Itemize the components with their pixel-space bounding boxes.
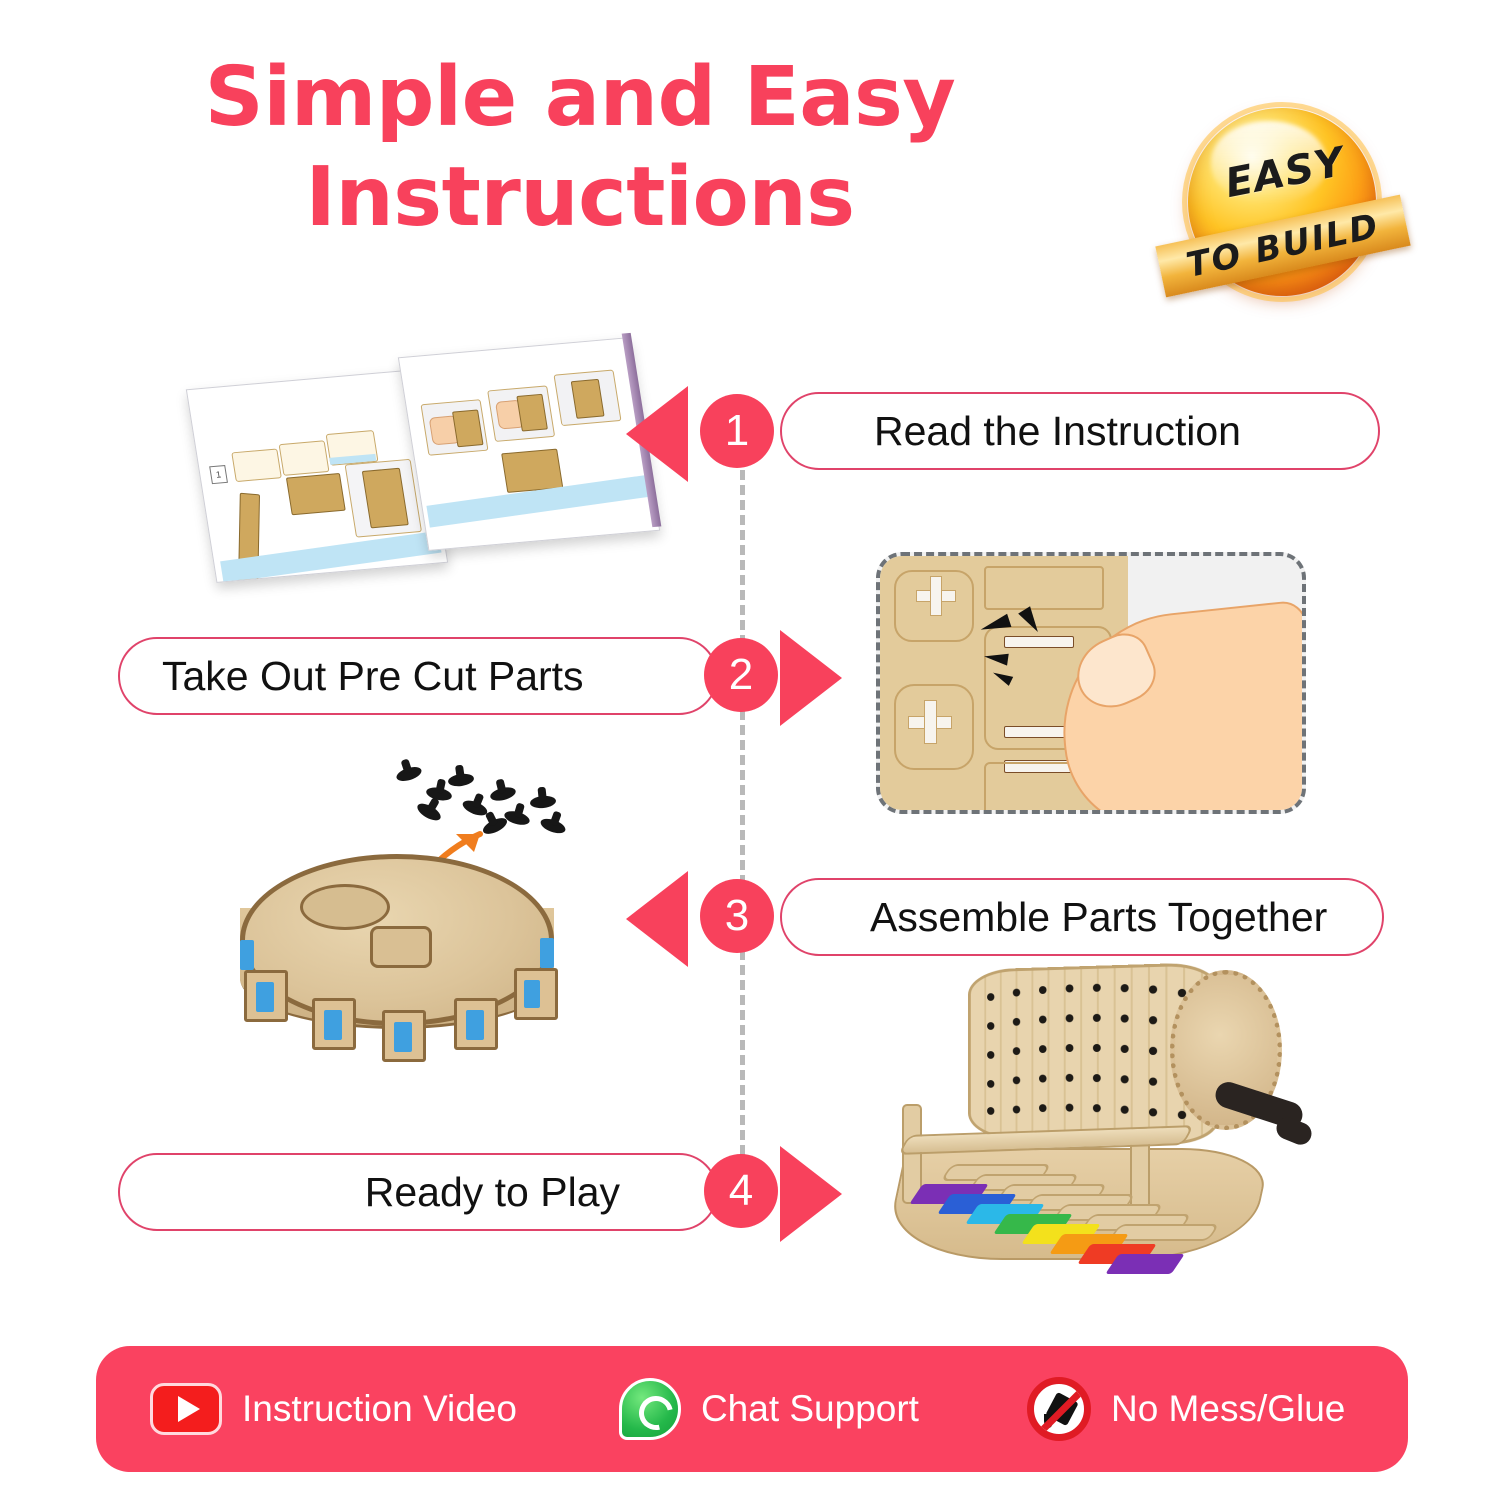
whatsapp-icon [619,1378,681,1440]
step-1-pill[interactable]: Read the Instruction [780,392,1380,470]
rivet [539,816,568,836]
precut-parts-image [876,552,1306,814]
footer-label-no-mess-glue: No Mess/Glue [1111,1388,1345,1430]
drum-center-hole [300,884,390,930]
step-2-number-badge: 2 [704,638,778,712]
booklet-part-diagram [452,409,484,447]
sheet-cut-outline [984,566,1104,610]
rivet [395,764,423,783]
blue-connector [240,940,254,970]
rivet [447,772,474,788]
step-2-label: Take Out Pre Cut Parts [162,653,584,700]
step-2-arrow-icon [780,630,842,726]
booklet-part-diagram [286,473,346,515]
page-title-line2: Instructions [0,148,1160,248]
rivet [503,809,531,828]
music-box-image [884,952,1304,1270]
rivet [489,785,517,803]
blue-connector [324,1010,342,1040]
booklet-panel [279,440,330,476]
footer-label-chat-support: Chat Support [701,1388,919,1430]
footer-item-no-mess-glue[interactable]: No Mess/Glue [1027,1377,1345,1441]
footer-bar: Instruction Video Chat Support No Mess/G… [96,1346,1408,1472]
step-3-number-badge: 3 [700,879,774,953]
step-3-pill[interactable]: Assemble Parts Together [780,878,1384,956]
blue-connector [256,982,274,1012]
booklet-right-page [398,337,660,551]
step-2-pill[interactable]: Take Out Pre Cut Parts [118,637,718,715]
footer-item-instruction-video[interactable]: Instruction Video [150,1383,517,1435]
step-4-number-badge: 4 [704,1154,778,1228]
step-4-label: Ready to Play [365,1169,620,1216]
step-4-arrow-icon [780,1146,842,1242]
step-connector-line [740,455,745,1200]
step-1-label: Read the Instruction [874,408,1241,455]
plus-part-v [930,576,942,616]
footer-label-instruction-video: Instruction Video [242,1388,517,1430]
booklet-part-diagram [516,394,548,432]
rivet [425,785,453,802]
booklet-step-number: 1 [209,465,228,484]
blue-connector [524,980,540,1008]
music-box-crank-knob [1273,1114,1315,1148]
step-1-arrow-icon [626,386,688,482]
sheet-slot [1004,636,1074,648]
music-box-keys [900,1164,1200,1256]
step-4-pill[interactable]: Ready to Play [118,1153,718,1231]
plus-part-v [924,700,937,744]
easy-to-build-badge: EASY TO BUILD [1182,102,1382,302]
rivet [529,795,556,810]
drum-gear-part [370,926,432,968]
page-title-line1: Simple and Easy [205,50,956,145]
assembled-drum-image [222,758,602,1103]
instruction-booklet-image: 1 [185,318,655,598]
infographic-canvas: Simple and Easy Instructions EASY TO BUI… [0,0,1500,1500]
footer-item-chat-support[interactable]: Chat Support [619,1378,919,1440]
blue-connector [466,1010,484,1040]
sheet-slot [1004,726,1068,738]
booklet-panel [231,448,282,482]
no-glue-icon [1027,1377,1091,1441]
step-3-arrow-icon [626,871,688,967]
step-1-number-badge: 1 [700,394,774,468]
blue-connector [540,938,554,968]
youtube-icon [150,1383,222,1435]
key-purple-2 [1105,1254,1184,1274]
booklet-part-diagram [501,449,563,493]
blue-connector [394,1022,412,1052]
booklet-part-diagram [571,379,605,419]
page-title: Simple and Easy Instructions [0,48,1160,248]
step-3-label: Assemble Parts Together [870,894,1327,941]
